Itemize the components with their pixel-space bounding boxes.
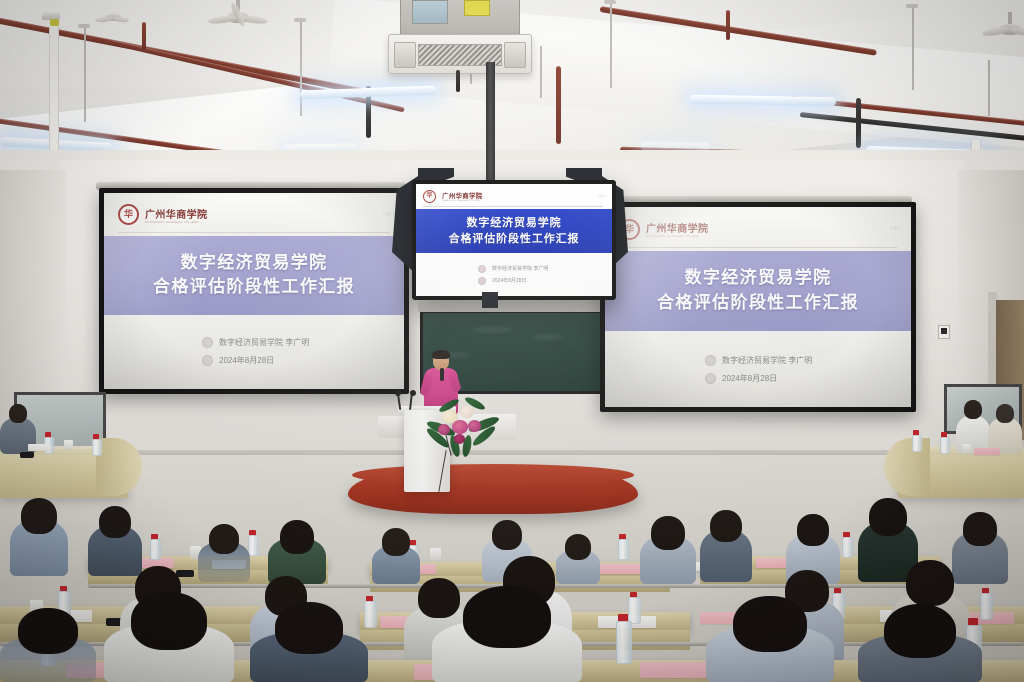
bullet-dot-icon: [202, 337, 213, 348]
slide-presenter-row: 数字经济贸易学院 李广明: [705, 355, 911, 366]
slide-date: 2024年8月28日: [492, 277, 526, 284]
slide-title-band: 数字经济贸易学院 合格评估阶段性工作汇报: [605, 251, 911, 331]
slide-date-row: 2024年8月28日: [478, 277, 612, 285]
slide-presenter: 数字经济贸易学院 李广明: [219, 337, 309, 348]
water-bottle[interactable]: [618, 534, 627, 560]
ceiling-fan: [214, 0, 264, 22]
slide-header: 华 广州华商学院 GUANGZHOU HUASHANG COLLEGE 汇报人: [416, 184, 612, 209]
attendee: [0, 608, 96, 682]
paper-cup[interactable]: [430, 548, 441, 561]
slide-presenter: 数字经济贸易学院 李广明: [492, 265, 548, 272]
college-name-en: GUANGZHOU HUASHANG COLLEGE: [646, 235, 708, 238]
wall-switch[interactable]: [938, 325, 950, 339]
water-bottle[interactable]: [842, 532, 851, 558]
water-bottle[interactable]: [940, 432, 948, 454]
slide-title-line-2: 合格评估阶段性工作汇报: [153, 275, 355, 300]
slide-date-row: 2024年8月28日: [705, 373, 911, 384]
slide-right: 华 广州华商学院 GUANGZHOU HUASHANG COLLEGE 汇报人 …: [605, 207, 911, 407]
slide-title-line-2: 合格评估阶段性工作汇报: [657, 291, 859, 316]
slide-footer: 数字经济贸易学院 李广明 2024年8月28日: [416, 253, 612, 296]
ceiling-fan: [986, 12, 1024, 36]
slide-corner-mark: 汇报人: [890, 226, 901, 231]
slide-title-line-1: 数字经济贸易学院: [685, 266, 832, 291]
pipe-drop: [726, 10, 730, 40]
college-logo: 华 广州华商学院 GUANGZHOU HUASHANG COLLEGE: [619, 219, 708, 240]
attendee: [432, 586, 582, 682]
handout[interactable]: [974, 448, 1000, 455]
lcd-mount-pole: [486, 62, 495, 180]
slide-presenter-row: 数字经济贸易学院 李广明: [202, 337, 404, 348]
slide-presenter-row: 数字经济贸易学院 李广明: [478, 265, 612, 273]
college-name-cn: 广州华商学院: [646, 220, 708, 235]
attendee: [250, 602, 368, 682]
right-projection-screen: 华 广州华商学院 GUANGZHOU HUASHANG COLLEGE 汇报人 …: [600, 202, 916, 412]
college-name-cn: 广州华商学院: [145, 206, 207, 221]
water-bottle[interactable]: [92, 434, 100, 456]
document[interactable]: [28, 444, 50, 451]
slide-date: 2024年8月28日: [219, 355, 274, 366]
ac-warning-label: [464, 0, 490, 16]
water-bottle[interactable]: [616, 614, 630, 664]
attendee: [198, 524, 250, 582]
attendee: [700, 510, 752, 582]
bullet-dot-icon: [478, 265, 486, 273]
attendee: [640, 516, 696, 584]
attendee: [104, 592, 234, 682]
pipe-drop: [142, 22, 146, 50]
slide-title-line-1: 数字经济贸易学院: [466, 215, 561, 232]
slide-title-band: 数字经济贸易学院 合格评估阶段性工作汇报: [416, 209, 612, 254]
lcd-stand-column: [482, 292, 498, 308]
college-seal-icon: 华: [118, 204, 139, 225]
slide-header: 华 广州华商学院 GUANGZHOU HUASHANG COLLEGE 汇报人: [605, 207, 911, 251]
ceiling-sensor-lamp: [50, 19, 59, 26]
slide-corner-mark: 汇报人: [598, 194, 606, 198]
ceiling-fan: [96, 8, 130, 24]
bullet-dot-icon: [478, 277, 486, 285]
water-bottle[interactable]: [150, 534, 159, 560]
attendee: [10, 498, 68, 576]
attendee: [706, 596, 834, 682]
center-lcd-monitor: 华 广州华商学院 GUANGZHOU HUASHANG COLLEGE 汇报人 …: [412, 180, 616, 300]
slide-corner-mark: 汇报人: [383, 212, 394, 217]
slide-presenter: 数字经济贸易学院 李广明: [722, 355, 812, 366]
slide-title-band: 数字经济贸易学院 合格评估阶段性工作汇报: [104, 236, 404, 314]
slide-title-line-2: 合格评估阶段性工作汇报: [449, 231, 580, 248]
bullet-dot-icon: [705, 355, 716, 366]
slide-header: 华 广州华商学院 GUANGZHOU HUASHANG COLLEGE 汇报人: [104, 193, 404, 236]
left-projection-screen: 华 广州华商学院 GUANGZHOU HUASHANG COLLEGE 汇报人 …: [99, 188, 409, 394]
attendee: [268, 520, 326, 584]
paper-cup[interactable]: [64, 440, 73, 450]
attendee: [858, 604, 982, 682]
pipe-drop: [556, 66, 561, 144]
lecture-hall-photo: 华 广州华商学院 GUANGZHOU HUASHANG COLLEGE 汇报人 …: [0, 0, 1024, 682]
pipe-drop: [856, 98, 861, 148]
slide-center: 华 广州华商学院 GUANGZHOU HUASHANG COLLEGE 汇报人 …: [416, 184, 612, 296]
paper-cup[interactable]: [962, 444, 971, 454]
college-seal-icon: 华: [423, 190, 436, 203]
bullet-dot-icon: [202, 355, 213, 366]
slide-footer: 数字经济贸易学院 李广明 2024年8月28日: [605, 331, 911, 407]
college-logo: 华 广州华商学院 GUANGZHOU HUASHANG COLLEGE: [118, 204, 207, 225]
slide-date: 2024年8月28日: [722, 373, 777, 384]
college-name-en: GUANGZHOU HUASHANG COLLEGE: [145, 221, 207, 224]
handheld-microphone: [440, 368, 444, 381]
attendee: [988, 404, 1022, 454]
flower-arrangement: [430, 398, 496, 460]
bullet-dot-icon: [705, 373, 716, 384]
slide-title-line-1: 数字经济贸易学院: [181, 251, 328, 276]
attendee: [372, 528, 420, 584]
college-name-cn: 广州华商学院: [442, 190, 483, 200]
college-name-en: GUANGZHOU HUASHANG COLLEGE: [442, 200, 483, 202]
ceiling-air-conditioner: [378, 0, 538, 88]
slide-left: 华 广州华商学院 GUANGZHOU HUASHANG COLLEGE 汇报人 …: [104, 193, 404, 389]
phone[interactable]: [20, 452, 34, 458]
slide-date-row: 2024年8月28日: [202, 355, 404, 366]
water-bottle[interactable]: [912, 430, 920, 452]
side-table-right-endcap: [884, 438, 930, 496]
college-logo: 华 广州华商学院 GUANGZHOU HUASHANG COLLEGE: [423, 190, 483, 203]
slide-footer: 数字经济贸易学院 李广明 2024年8月28日: [104, 315, 404, 390]
chalkboard-light-valance: [418, 300, 604, 312]
